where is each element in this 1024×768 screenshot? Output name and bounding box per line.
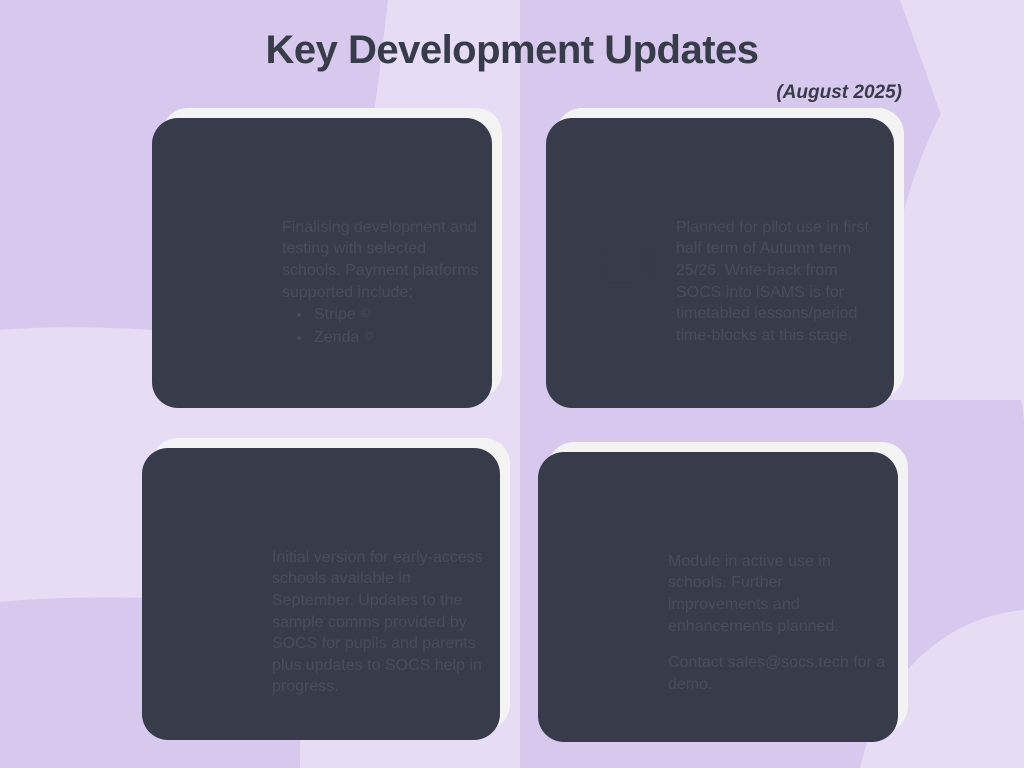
card-facilities[interactable]: Facilities Enhancements [548,442,908,732]
clipboard-check-cross-icon [578,213,670,305]
card-body: Finalising development and testing with … [184,217,480,349]
card-text: Module in active use in schools. Further… [668,551,886,696]
card-divider [574,505,882,511]
card-body: Initial version for early-access schools… [174,547,488,698]
card-isams-out-of-class[interactable]: iSAMS “Out of Class” Pilot [556,108,904,398]
card-subtitle: Testing [184,187,480,211]
card-text: Planned for pilot use in first half term… [676,217,882,347]
card-title: iSAMS “Out of Class” [578,124,882,153]
card-title: Parent Portal [174,454,488,483]
card-title: Facilities [570,458,886,487]
card-body: Module in active use in schools. Further… [570,551,886,696]
card-paragraph: Finalising development and testing with … [282,217,480,303]
card-contact-paragraph: Contact sales@socs.tech for a demo. [668,652,886,695]
copyright-icon: © [359,329,373,343]
copyright-icon: © [356,306,370,320]
list-item: Stripe© [312,304,480,326]
card-title: Online Payments [184,124,480,153]
card-subtitle: Early Access [174,517,488,541]
payment-platforms-list: Stripe© Zenda© [312,304,480,349]
card-inner: Parent Portal Early Access Initial versi… [152,438,510,730]
card-paragraph: Initial version for early-access schools… [272,547,488,698]
card-text: Initial version for early-access schools… [272,547,488,698]
padlock-clock-icon [174,541,266,649]
list-item-label: Zenda [314,329,359,346]
list-item-label: Stripe [314,306,356,323]
card-subtitle: Pilot [578,187,882,211]
card-parent-portal[interactable]: Parent Portal Early Access Initial versi… [152,438,510,730]
card-inner: iSAMS “Out of Class” Pilot [556,108,904,398]
card-paragraph: Module in active use in schools. Further… [668,551,886,637]
card-text: Finalising development and testing with … [282,217,480,349]
clipboard-checklist-pencil-icon [184,211,276,303]
card-online-payments[interactable]: Online Payments Testing [162,108,502,398]
card-body: Planned for pilot use in first half term… [578,217,882,347]
card-divider [178,501,484,507]
card-subtitle: Enhancements [570,521,886,545]
card-divider [582,171,878,177]
list-item: Zenda© [312,327,480,349]
lightbulb-star-plus-icon [570,553,662,645]
card-inner: Online Payments Testing [162,108,502,398]
card-divider [188,171,476,177]
card-inner: Facilities Enhancements [548,442,908,732]
card-paragraph: Planned for pilot use in first half term… [676,217,882,347]
